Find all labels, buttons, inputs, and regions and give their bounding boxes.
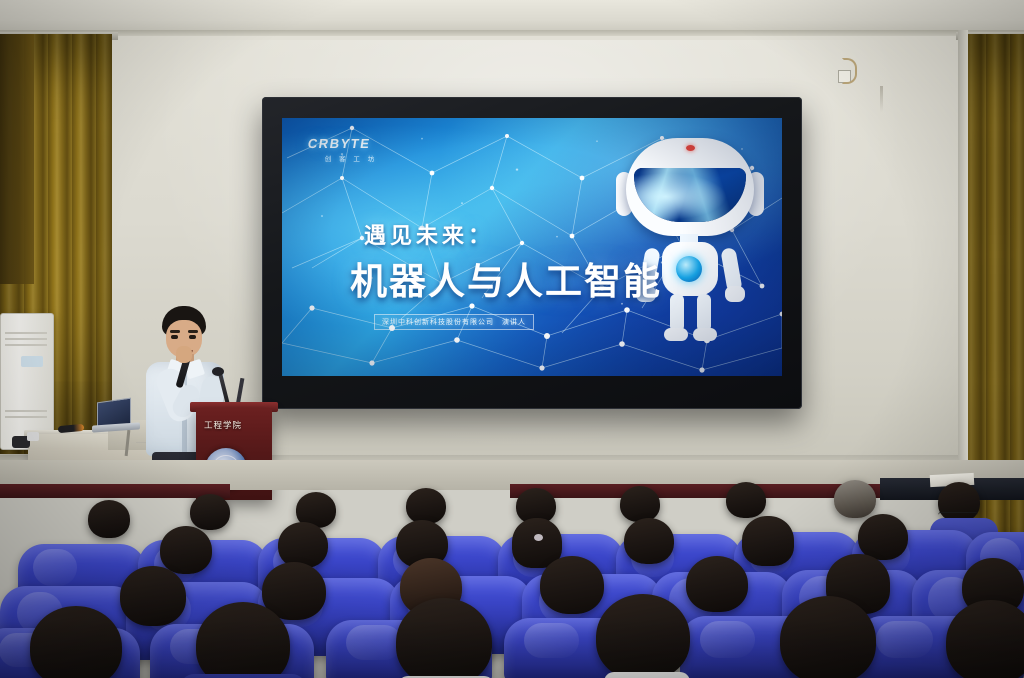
audience-head xyxy=(742,516,794,566)
audience-head xyxy=(780,596,876,678)
hair-tie xyxy=(534,534,543,541)
audience-head xyxy=(190,494,230,530)
rail-left xyxy=(0,484,230,498)
podium-microphone-head xyxy=(212,367,224,376)
audience-head xyxy=(196,602,290,678)
audience-body xyxy=(180,674,306,678)
audience-head xyxy=(278,522,328,568)
audience-head xyxy=(596,594,690,678)
audience-head xyxy=(88,500,130,538)
audience-area xyxy=(0,460,1024,678)
camera-rig xyxy=(12,432,42,454)
audience-head xyxy=(620,486,660,522)
podium-label: 工程学院 xyxy=(204,419,266,431)
ceiling xyxy=(0,0,1024,34)
lecture-hall-photograph: CRBYTE 创 客 工 坊 遇见未来： 机器人与人工智能 深圳中科创新科技股份… xyxy=(0,0,1024,678)
audience-head xyxy=(624,518,674,564)
ac-control-panel xyxy=(21,356,43,367)
audience-head xyxy=(120,566,186,626)
audience-head xyxy=(406,488,446,524)
slide-vignette xyxy=(282,118,782,376)
wall-mark xyxy=(880,86,883,112)
curtain-left-shadow xyxy=(0,34,34,284)
slide-canvas: CRBYTE 创 客 工 坊 遇见未来： 机器人与人工智能 深圳中科创新科技股份… xyxy=(282,118,782,376)
audience-head xyxy=(396,598,492,678)
door-frame-right xyxy=(958,30,968,500)
projection-display[interactable]: CRBYTE 创 客 工 坊 遇见未来： 机器人与人工智能 深圳中科创新科技股份… xyxy=(262,97,802,409)
cable-hook-icon xyxy=(838,58,854,84)
audience-head xyxy=(30,606,122,678)
audience-head xyxy=(160,526,212,574)
audience-head xyxy=(540,556,604,614)
white-shirt xyxy=(604,672,690,678)
audience-head xyxy=(858,514,908,560)
audience-head-gray xyxy=(834,480,876,518)
audience-head xyxy=(726,482,766,518)
audience-head xyxy=(686,556,748,612)
rail-right xyxy=(510,484,890,498)
